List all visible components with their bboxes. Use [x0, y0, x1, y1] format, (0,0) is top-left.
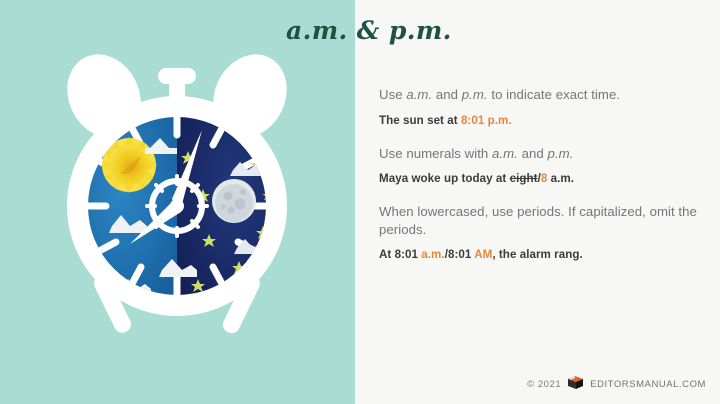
rule-block: Use numerals with a.m. and p.m. Maya wok… [379, 145, 699, 187]
copyright-text: © 2021 [527, 379, 561, 390]
infographic-card: a.m. & p.m. Use a.m. and p.m. to indicat… [0, 0, 720, 404]
rule-explanation: When lowercased, use periods. If capital… [379, 203, 699, 238]
rule-example: At 8:01 a.m./8:01 AM, the alarm rang. [379, 247, 699, 262]
rule-block: When lowercased, use periods. If capital… [379, 203, 699, 262]
moon-icon [212, 179, 256, 223]
rule-example: Maya woke up today at eight/8 a.m. [379, 171, 699, 186]
alarm-clock-illustration [52, 48, 302, 349]
page-title: a.m. & p.m. [286, 16, 452, 45]
footer: © 2021 EDITORSMANUAL.COM [527, 375, 706, 393]
editorsmanual-cube-logo-icon [567, 375, 584, 393]
brand-text: EDITORSMANUAL.COM [590, 379, 706, 390]
clock-gear-hub [147, 176, 207, 236]
rule-explanation: Use a.m. and p.m. to indicate exact time… [379, 86, 699, 104]
rules-list: Use a.m. and p.m. to indicate exact time… [379, 86, 699, 279]
rule-example: The sun set at 8:01 p.m. [379, 113, 699, 128]
rule-block: Use a.m. and p.m. to indicate exact time… [379, 86, 699, 128]
rule-explanation: Use numerals with a.m. and p.m. [379, 145, 699, 163]
